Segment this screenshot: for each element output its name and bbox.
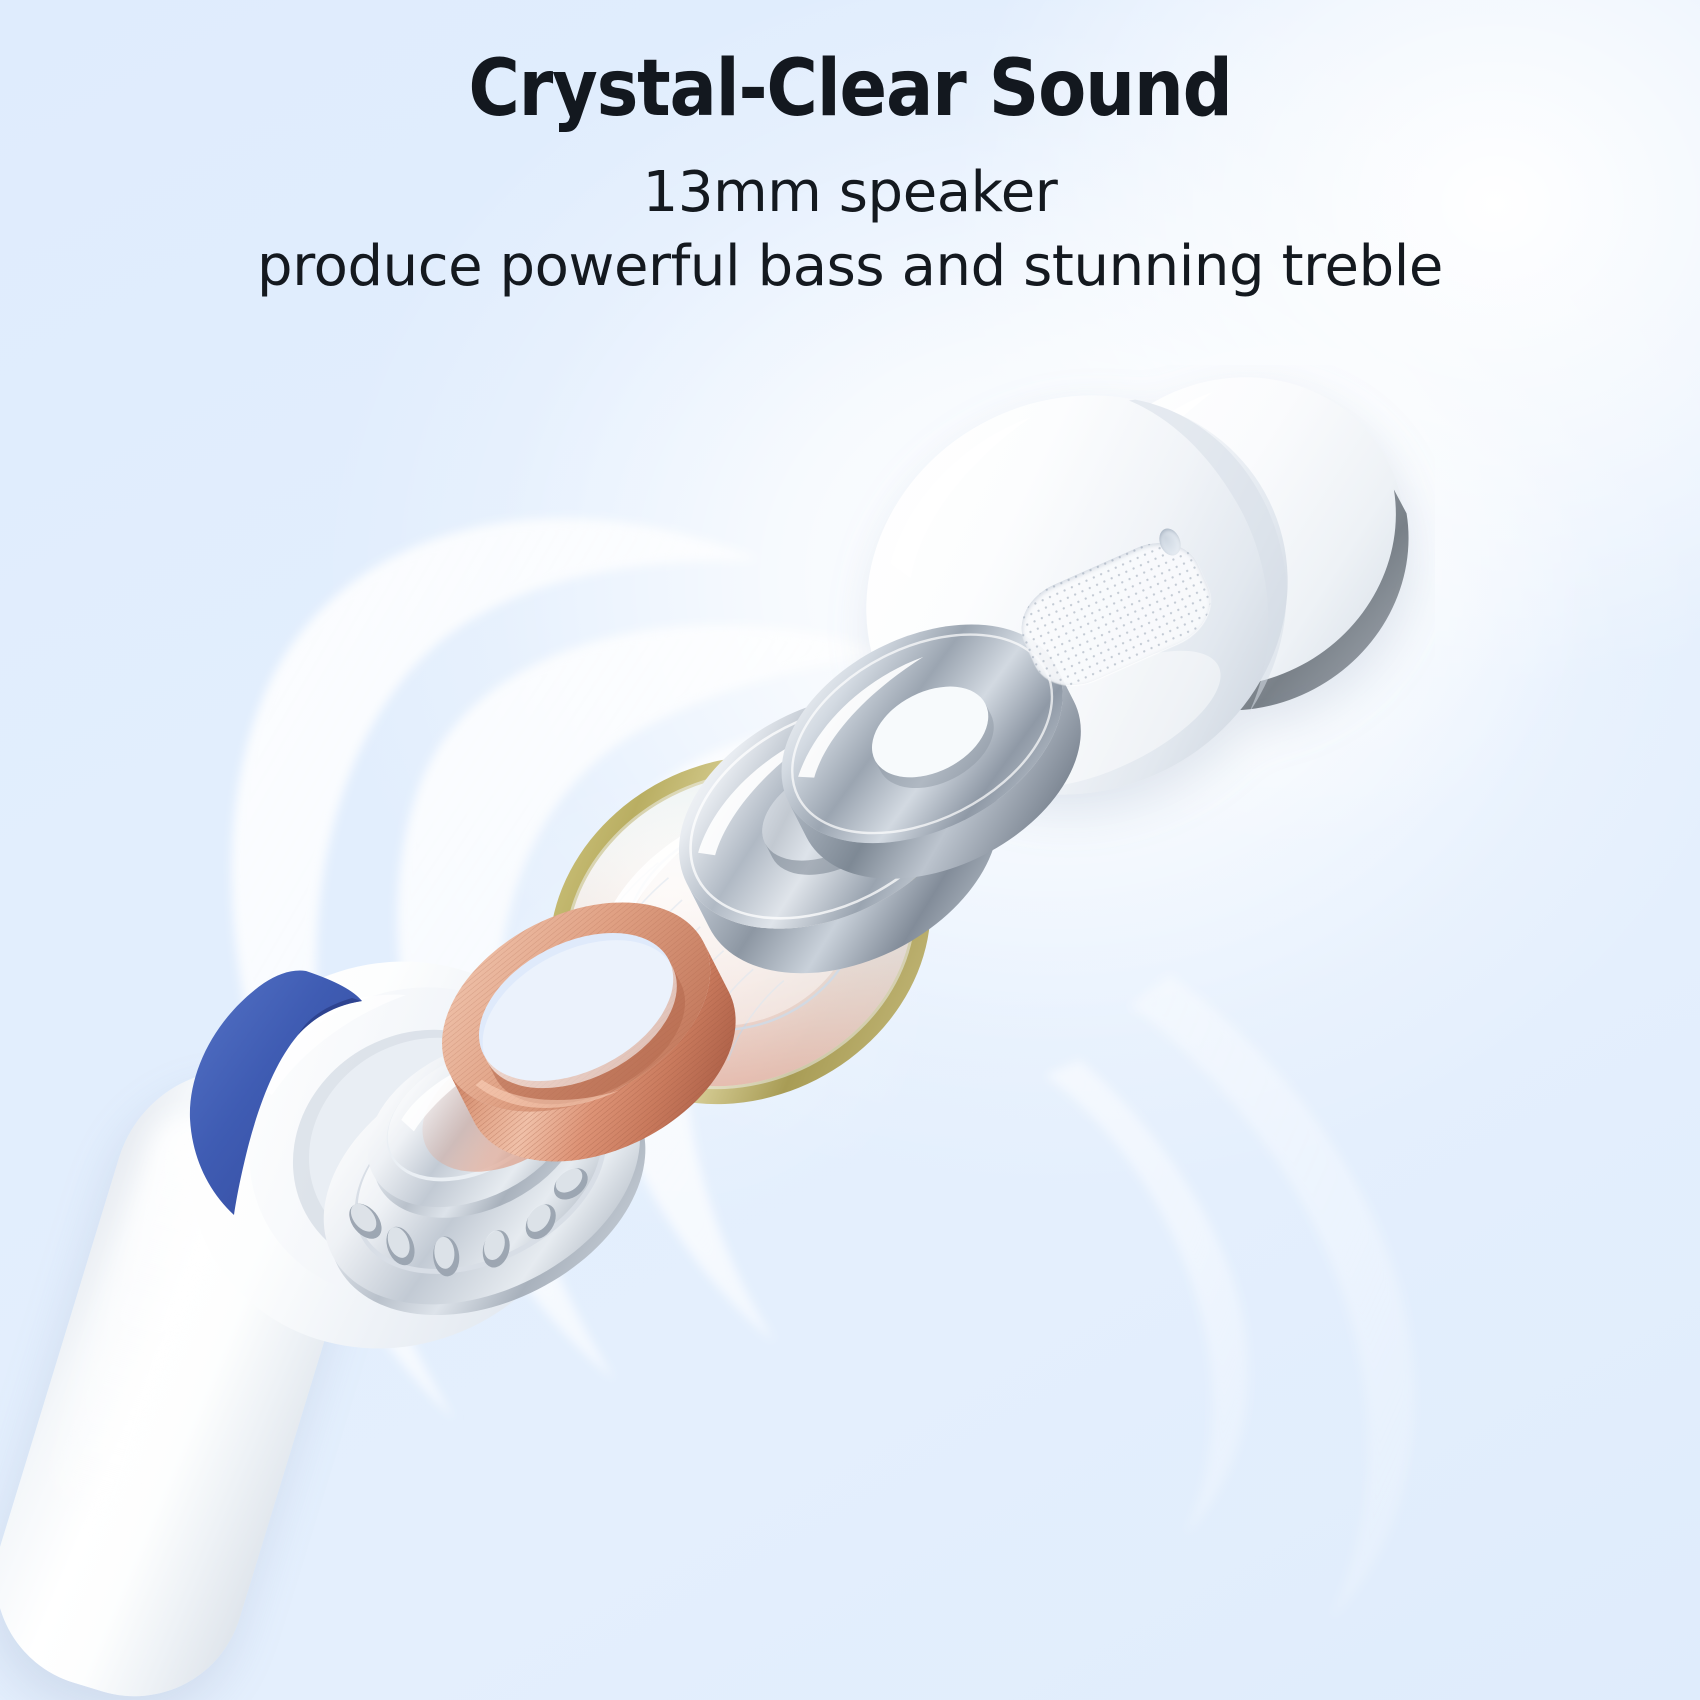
spec-subtitle: 13mm speaker: [0, 131, 1700, 230]
marketing-copy: Crystal-Clear Sound 13mm speaker produce…: [0, 0, 1700, 304]
benefit-subtitle: produce powerful bass and stunning trebl…: [0, 229, 1700, 304]
wave-arc-right: [1045, 1060, 1248, 1535]
product-banner: Crystal-Clear Sound 13mm speaker produce…: [0, 0, 1700, 1700]
page-title: Crystal-Clear Sound: [0, 0, 1700, 131]
wave-arc-right-outer: [1130, 975, 1414, 1620]
